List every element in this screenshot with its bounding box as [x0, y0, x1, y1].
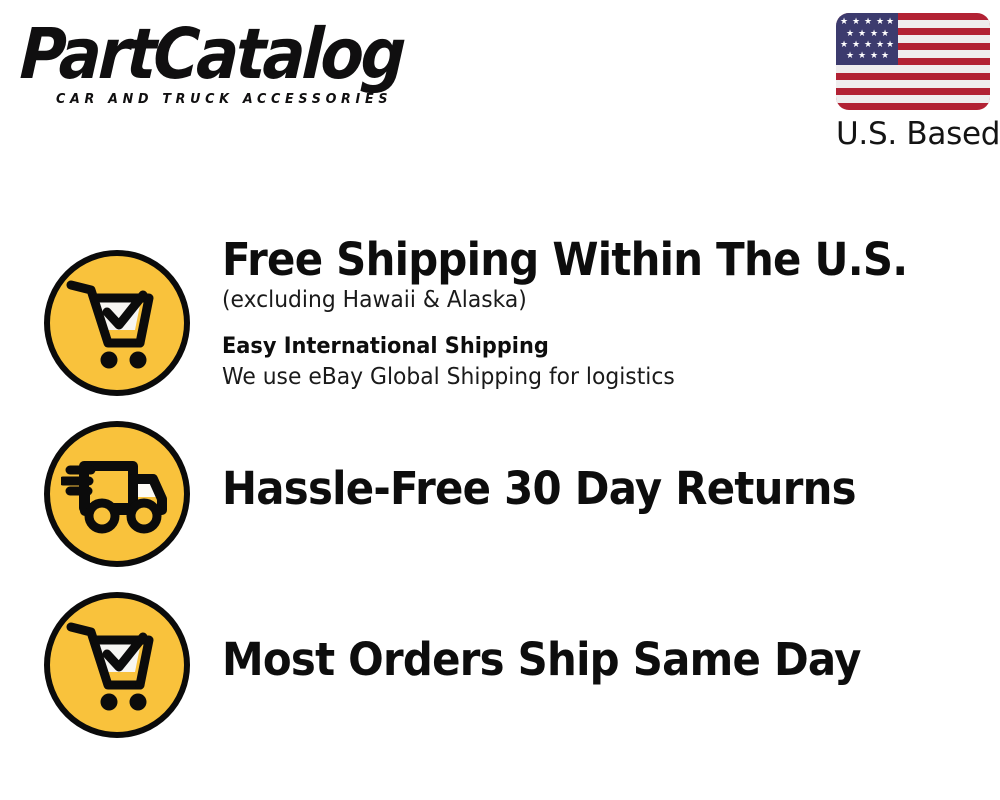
shopping-cart-check-icon: [44, 250, 190, 396]
international-shipping-detail: We use eBay Global Shipping for logistic…: [222, 362, 942, 392]
brand-logo: PartCatalog CAR AND TRUCK ACCESSORIES: [22, 18, 492, 118]
feature-headline: Most Orders Ship Same Day: [222, 635, 927, 685]
feature-headline: Hassle-Free 30 Day Returns: [222, 464, 927, 514]
feature-headline: Free Shipping Within The U.S.: [222, 235, 927, 285]
brand-tagline: CAR AND TRUCK ACCESSORIES: [56, 91, 466, 107]
feature-subline: (excluding Hawaii & Alaska): [222, 285, 942, 315]
international-shipping-heading: Easy International Shipping: [222, 332, 942, 362]
us-flag-icon: ★ ★ ★ ★ ★ ★ ★ ★ ★ ★ ★ ★ ★ ★ ★ ★ ★ ★: [836, 13, 990, 110]
brand-wordmark: PartCatalog: [19, 18, 445, 90]
feature-text-returns: Hassle-Free 30 Day Returns: [222, 464, 980, 514]
delivery-truck-icon: [44, 421, 190, 567]
us-based-seller-badge: ★ ★ ★ ★ ★ ★ ★ ★ ★ ★ ★ ★ ★ ★ ★ ★ ★ ★ U.S.…: [836, 13, 990, 152]
flag-canton: ★ ★ ★ ★ ★ ★ ★ ★ ★ ★ ★ ★ ★ ★ ★ ★ ★ ★: [836, 13, 898, 65]
seller-info-banner: PartCatalog CAR AND TRUCK ACCESSORIES ★ …: [0, 0, 1000, 800]
feature-text-free-shipping: Free Shipping Within The U.S. (excluding…: [222, 235, 980, 392]
feature-text-same-day: Most Orders Ship Same Day: [222, 635, 980, 685]
shopping-cart-check-icon: [44, 592, 190, 738]
us-based-seller-label: U.S. Based Seller: [836, 116, 990, 152]
